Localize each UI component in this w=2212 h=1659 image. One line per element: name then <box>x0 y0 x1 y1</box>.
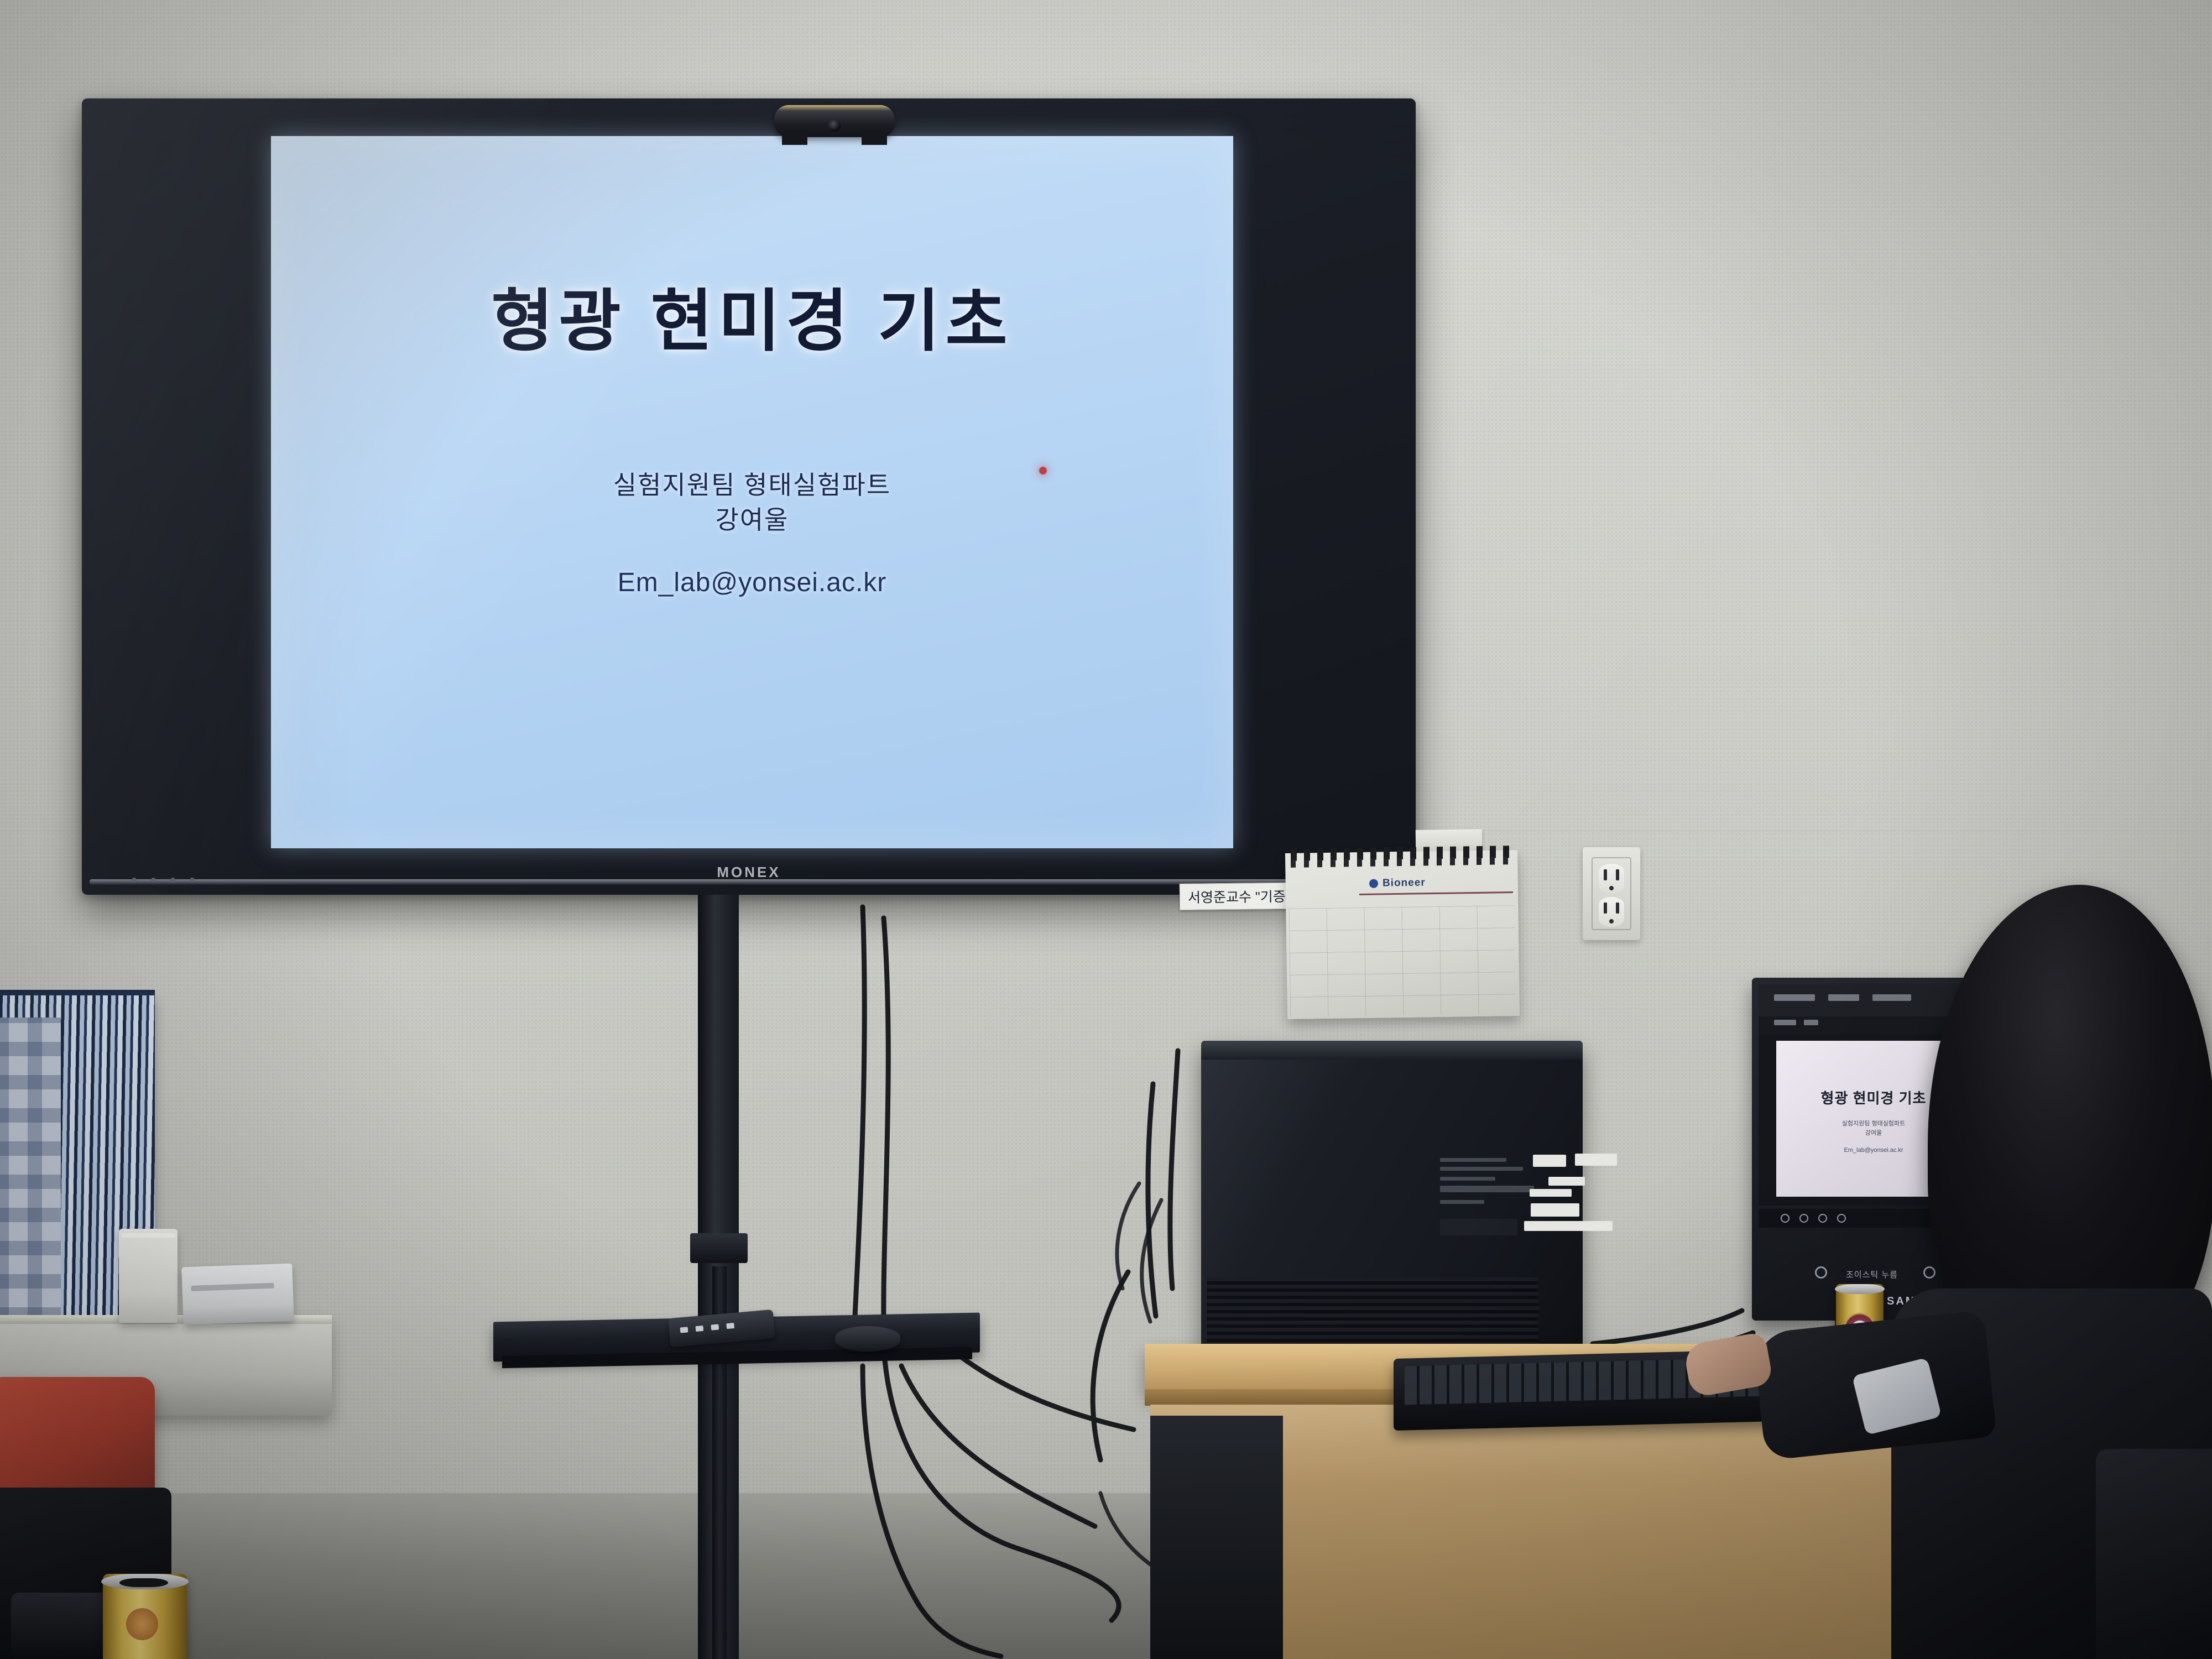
outlet-socket-top[interactable] <box>1599 864 1624 894</box>
calendar-logo: Bioneer <box>1383 877 1426 889</box>
monitor-menu-button[interactable] <box>1923 1266 1936 1279</box>
zoom-out-icon[interactable] <box>1837 1214 1846 1223</box>
slide-subtitle-line1: 실험지원팀 형태실험파트 <box>613 471 891 499</box>
person-chair <box>2096 1449 2212 1659</box>
television: 형광 현미경 기초 실험지원팀 형태실험파트 강여울 Em_lab@yonsei… <box>82 98 1416 895</box>
slide-email: Em_lab@yonsei.ac.kr <box>271 567 1233 598</box>
tv-brand-logo: MONEX <box>717 864 780 881</box>
slide-subtitle-line2: 강여울 <box>716 505 789 534</box>
ribbon-tab-2[interactable] <box>1828 994 1859 1001</box>
checkered-fabric <box>0 1018 61 1322</box>
ribbon-group-2[interactable] <box>1804 1020 1818 1025</box>
tv-screen: 형광 현미경 기초 실험지원팀 형태실험파트 강여울 Em_lab@yonsei… <box>271 136 1233 848</box>
slide-subtitle: 실험지원팀 형태실험파트 강여울 <box>271 468 1233 538</box>
monitor-slide-subtitle-2: 강여울 <box>1865 1130 1882 1136</box>
ribbon-tab-3[interactable] <box>1872 994 1911 1001</box>
room-photo: 형광 현미경 기초 실험지원팀 형태실험파트 강여울 Em_lab@yonsei… <box>0 0 2212 1659</box>
ribbon-group-1[interactable] <box>1774 1020 1796 1025</box>
search-icon[interactable] <box>1799 1214 1808 1223</box>
zoom-in-icon[interactable] <box>1818 1214 1827 1223</box>
pc-front-grille <box>1207 1277 1538 1350</box>
monitor-power-button[interactable] <box>1815 1266 1827 1279</box>
calendar-grid <box>1289 905 1516 1017</box>
tv-stand-collar <box>690 1233 748 1263</box>
monitor-bezel-label: 조이스틱 누름 <box>1846 1269 1898 1280</box>
slide-title: 형광 현미경 기초 <box>271 267 1233 364</box>
outlet-socket-bottom[interactable] <box>1599 897 1624 927</box>
ribbon-tab-1[interactable] <box>1774 994 1815 1001</box>
tv-control-indicators[interactable] <box>132 878 195 883</box>
webcam-icon <box>774 105 895 137</box>
desk-side-panel <box>1150 1416 1283 1659</box>
monitor-slide-subtitle-1: 실험지원팀 형태실험파트 <box>1842 1120 1905 1127</box>
laser-pointer-dot <box>1039 466 1047 475</box>
round-device[interactable] <box>835 1326 900 1352</box>
beverage-can-left[interactable] <box>103 1574 187 1659</box>
paper-cup-stack[interactable] <box>119 1229 178 1323</box>
tissue-box[interactable] <box>181 1264 294 1325</box>
slideshow-icon[interactable] <box>1781 1214 1790 1223</box>
